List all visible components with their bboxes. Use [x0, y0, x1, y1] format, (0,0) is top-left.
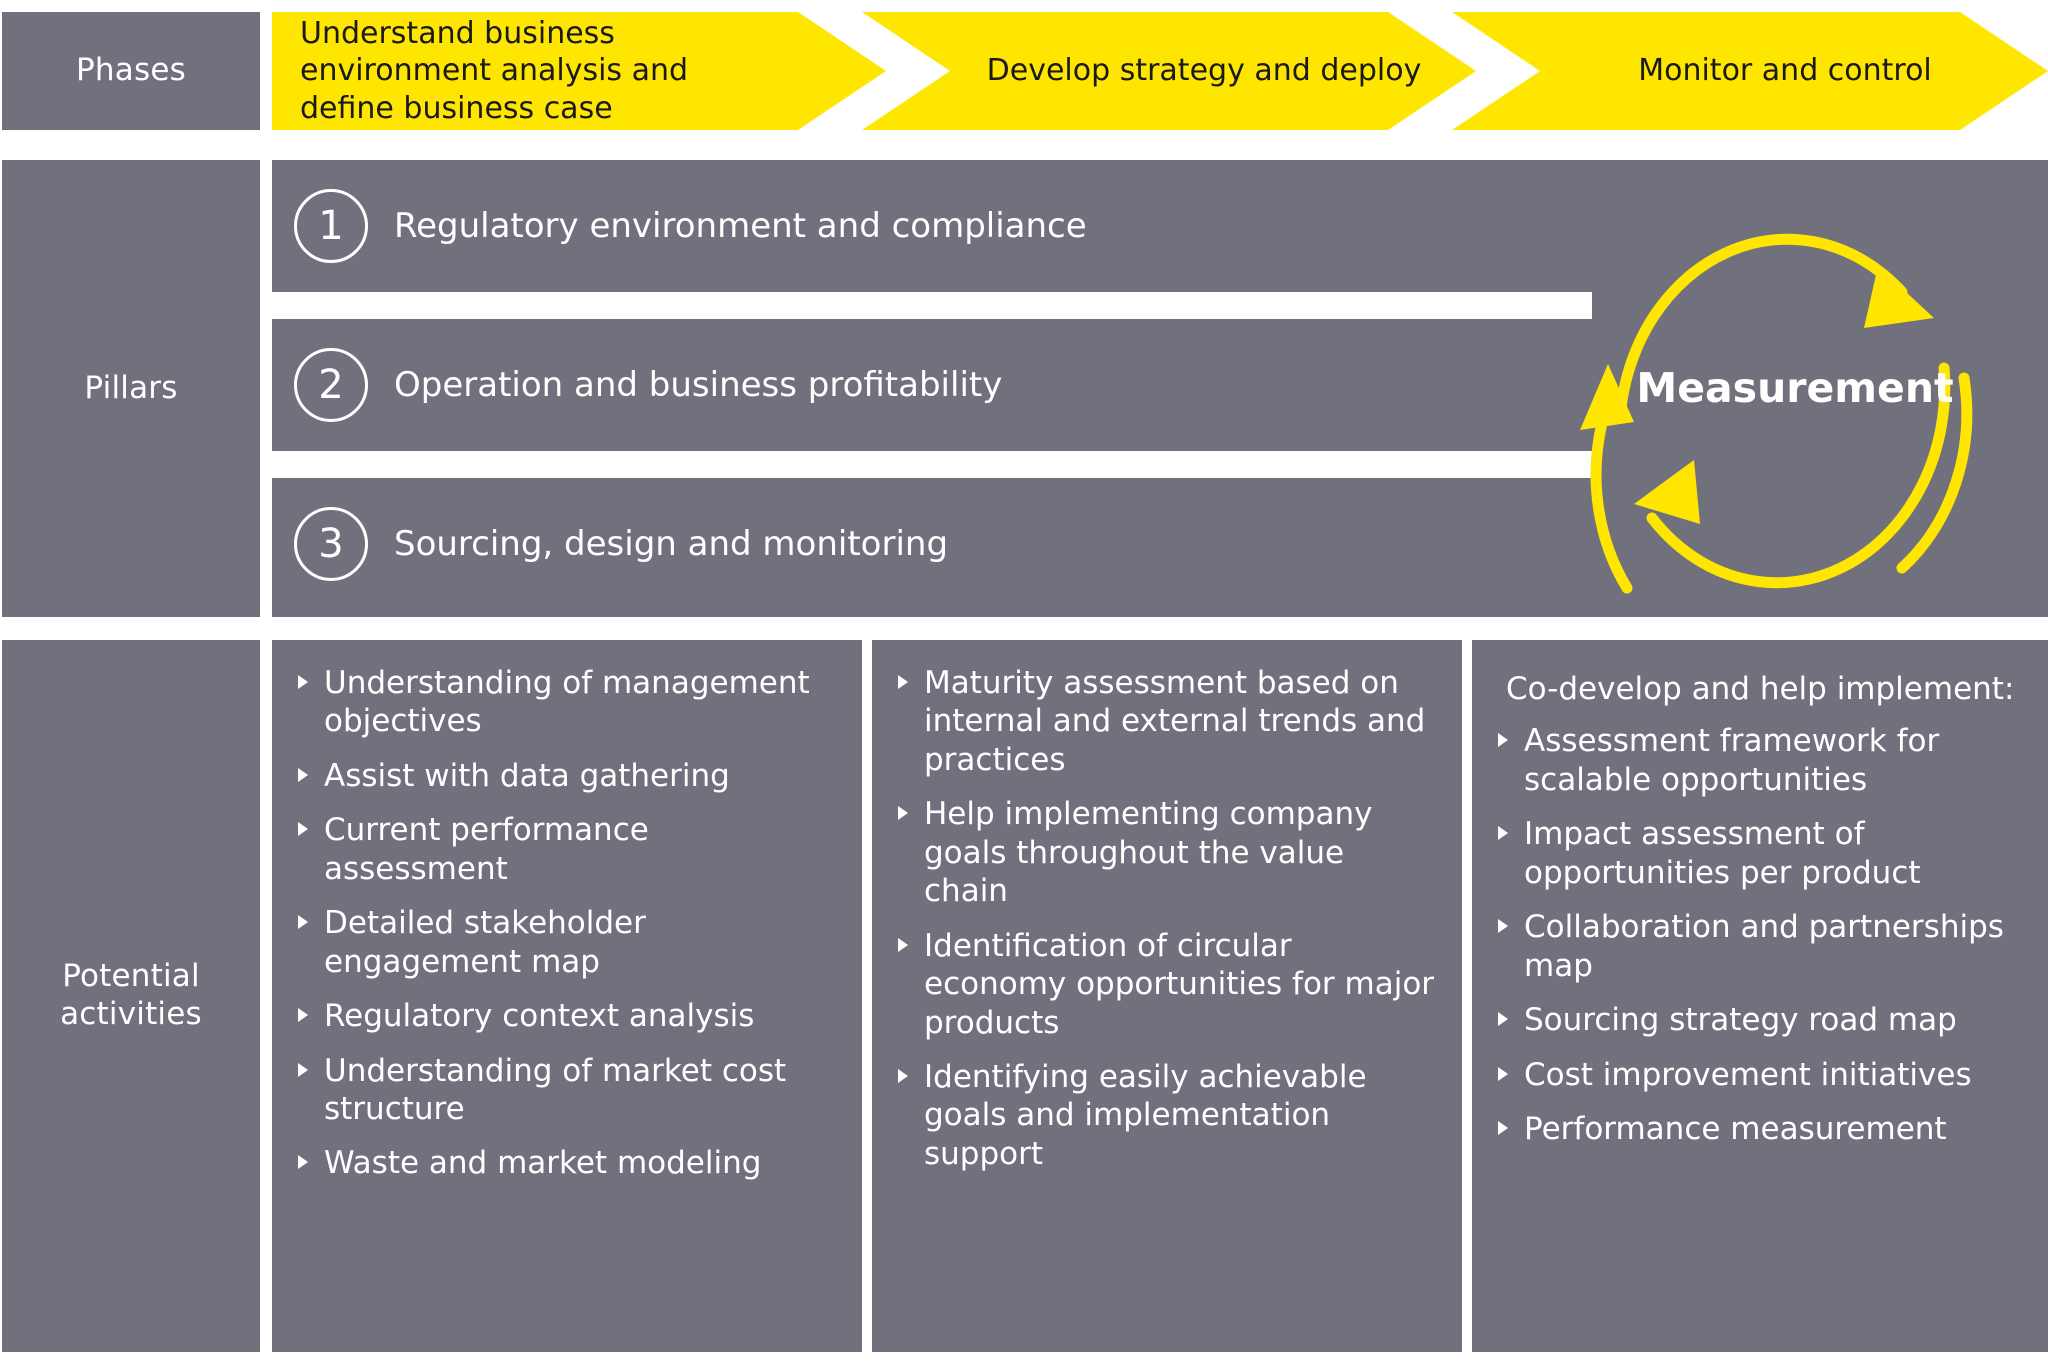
- bullet-triangle-icon: [298, 1008, 308, 1022]
- pillar-separator-1: [272, 292, 1592, 319]
- activity-item-label: Identification of circular economy oppor…: [924, 928, 1434, 1041]
- pillar-separator-2: [272, 451, 1592, 478]
- pillar-row-1[interactable]: 1 Regulatory environment and compliance: [272, 160, 1087, 292]
- activity-item-label: Maturity assessment based on internal an…: [924, 665, 1425, 778]
- activity-item-label: Waste and market modeling: [324, 1145, 761, 1181]
- activity-item-label: Identifying easily achievable goals and …: [924, 1059, 1367, 1172]
- phase-label-2: Develop strategy and deploy: [987, 52, 1422, 90]
- activity-item: Understanding of management objectives: [298, 664, 836, 741]
- activity-item: Understanding of market cost structure: [298, 1052, 836, 1129]
- activity-item: Identification of circular economy oppor…: [898, 927, 1436, 1042]
- activity-item: Sourcing strategy road map: [1498, 1001, 2022, 1039]
- pillar-number-3: 3: [318, 521, 343, 567]
- bullet-triangle-icon: [298, 1063, 308, 1077]
- bullet-triangle-icon: [298, 675, 308, 689]
- pillar-row-3[interactable]: 3 Sourcing, design and monitoring: [272, 478, 948, 610]
- row-label-pillars-text: Pillars: [84, 370, 177, 408]
- pillar-title-3: Sourcing, design and monitoring: [394, 524, 948, 564]
- activity-item: Impact assessment of opportunities per p…: [1498, 815, 2022, 892]
- bullet-triangle-icon: [898, 938, 908, 952]
- bullet-triangle-icon: [1498, 1067, 1508, 1081]
- row-label-potential-activities-text: Potentialactivities: [60, 958, 202, 1034]
- bullet-triangle-icon: [1498, 1012, 1508, 1026]
- activity-item: Help implementing company goals througho…: [898, 795, 1436, 910]
- activity-item: Performance measurement: [1498, 1110, 2022, 1148]
- activity-item-label: Detailed stakeholder engagement map: [324, 905, 646, 979]
- bullet-triangle-icon: [898, 1069, 908, 1083]
- pillar-title-2: Operation and business profitability: [394, 365, 1002, 405]
- activities-column-3: Co-develop and help implement: Assessmen…: [1472, 640, 2048, 1352]
- bullet-triangle-icon: [298, 768, 308, 782]
- circular-arrows-icon: [1572, 168, 1992, 608]
- pillar-number-1: 1: [318, 203, 343, 249]
- activity-item: Cost improvement initiatives: [1498, 1056, 2022, 1094]
- activities-list-2: Maturity assessment based on internal an…: [898, 664, 1436, 1173]
- bullet-triangle-icon: [1498, 1121, 1508, 1135]
- activities-list-1: Understanding of management objectivesAs…: [298, 664, 836, 1183]
- pillar-number-2: 2: [318, 362, 343, 408]
- activity-item: Waste and market modeling: [298, 1144, 836, 1182]
- bullet-triangle-icon: [898, 806, 908, 820]
- bullet-triangle-icon: [298, 915, 308, 929]
- pillar-number-badge-3: 3: [294, 507, 368, 581]
- bullet-triangle-icon: [1498, 733, 1508, 747]
- activity-item: Assessment framework for scalable opport…: [1498, 722, 2022, 799]
- activity-item-label: Current performance assessment: [324, 812, 649, 886]
- pillar-number-badge-1: 1: [294, 189, 368, 263]
- activities-column-2: Maturity assessment based on internal an…: [872, 640, 1462, 1352]
- activity-item: Maturity assessment based on internal an…: [898, 664, 1436, 779]
- row-label-pillars: Pillars: [2, 160, 260, 617]
- phase-chevron-2[interactable]: Develop strategy and deploy: [862, 12, 1476, 130]
- phase-chevron-1[interactable]: Understand business environment analysis…: [272, 12, 886, 130]
- bullet-triangle-icon: [298, 1155, 308, 1169]
- row-label-phases-text: Phases: [76, 52, 186, 90]
- activities-intro-3: Co-develop and help implement:: [1506, 670, 2022, 708]
- pillar-number-badge-2: 2: [294, 348, 368, 422]
- phase-label-1: Understand business environment analysis…: [300, 15, 780, 128]
- activity-item: Assist with data gathering: [298, 757, 836, 795]
- activity-item-label: Understanding of management objectives: [324, 665, 810, 739]
- bullet-triangle-icon: [1498, 919, 1508, 933]
- activity-item-label: Sourcing strategy road map: [1524, 1002, 1957, 1038]
- activity-item: Current performance assessment: [298, 811, 836, 888]
- bullet-triangle-icon: [298, 822, 308, 836]
- phase-label-3: Monitor and control: [1638, 52, 1932, 90]
- row-label-potential-activities: Potentialactivities: [2, 640, 260, 1352]
- activity-item-label: Assist with data gathering: [324, 758, 730, 794]
- activity-item: Collaboration and partnerships map: [1498, 908, 2022, 985]
- activity-item-label: Understanding of market cost structure: [324, 1053, 786, 1127]
- activity-item-label: Performance measurement: [1524, 1111, 1947, 1147]
- activity-item-label: Assessment framework for scalable opport…: [1524, 723, 1939, 797]
- diagram-canvas: Phases Understand business environment a…: [0, 0, 2048, 1365]
- activity-item-label: Cost improvement initiatives: [1524, 1057, 1972, 1093]
- pillar-row-2[interactable]: 2 Operation and business profitability: [272, 319, 1002, 451]
- activities-list-3: Assessment framework for scalable opport…: [1498, 722, 2022, 1148]
- activities-column-1: Understanding of management objectivesAs…: [272, 640, 862, 1352]
- activity-item-label: Help implementing company goals througho…: [924, 796, 1372, 909]
- activity-item: Detailed stakeholder engagement map: [298, 904, 836, 981]
- bullet-triangle-icon: [1498, 826, 1508, 840]
- phase-chevron-3[interactable]: Monitor and control: [1452, 12, 2048, 130]
- pillar-title-1: Regulatory environment and compliance: [394, 206, 1087, 246]
- activity-item: Identifying easily achievable goals and …: [898, 1058, 1436, 1173]
- activity-item-label: Regulatory context analysis: [324, 998, 754, 1034]
- activity-item-label: Impact assessment of opportunities per p…: [1524, 816, 1921, 890]
- activity-item: Regulatory context analysis: [298, 997, 836, 1035]
- bullet-triangle-icon: [898, 675, 908, 689]
- row-label-phases: Phases: [2, 12, 260, 130]
- activity-item-label: Collaboration and partnerships map: [1524, 909, 2004, 983]
- pillars-panel: 1 Regulatory environment and compliance …: [272, 160, 2048, 617]
